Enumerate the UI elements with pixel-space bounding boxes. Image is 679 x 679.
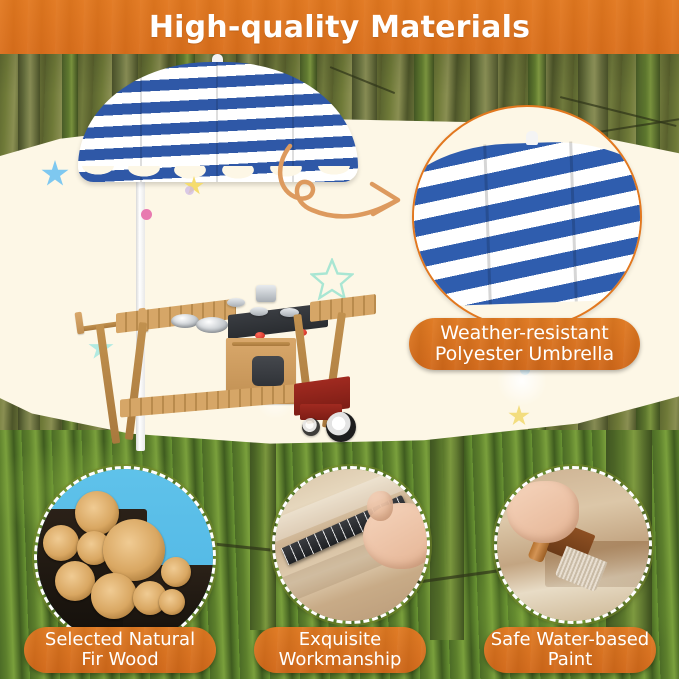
product-feature-image: High-quality Materials (0, 0, 679, 679)
curly-arrow-icon (272, 140, 432, 240)
workmanship-line2: Workmanship (279, 650, 402, 670)
feature-label-workmanship: Exquisite Workmanship (254, 627, 426, 673)
feature-label-paint: Safe Water-based Paint (484, 627, 656, 673)
workmanship-line1: Exquisite (279, 630, 402, 650)
cart-tall-pot (256, 285, 276, 302)
feature-photo-workmanship (272, 466, 430, 624)
pink-dot-icon (141, 209, 152, 220)
fir-wood-line1: Selected Natural (45, 630, 195, 650)
play-kitchen-cart (88, 278, 388, 450)
feature-photo-fir-wood (34, 466, 216, 648)
cart-leg-rear-left (96, 324, 121, 444)
cart-wheel-front (326, 412, 356, 442)
cart-bowl-left (171, 314, 199, 328)
umbrella-fabric-closeup (412, 138, 642, 308)
cart-pot-lid-b (250, 307, 268, 316)
fir-wood-line2: Fir Wood (45, 650, 195, 670)
cart-oven-window (252, 356, 284, 386)
feature-photo-paint (494, 466, 652, 624)
umbrella-detail-photo (412, 105, 642, 329)
paint-line1: Safe Water-based (491, 630, 649, 650)
umbrella-detail-finial (526, 131, 538, 145)
umbrella-callout-label: Weather-resistant Polyester Umbrella (409, 318, 640, 370)
lavender-dot-icon (185, 186, 194, 195)
cart-bowl-right (196, 317, 228, 333)
umbrella-label-line1: Weather-resistant (435, 323, 614, 344)
feature-label-fir-wood: Selected Natural Fir Wood (24, 627, 216, 673)
page-title: High-quality Materials (149, 10, 530, 45)
hand-painting (507, 481, 579, 543)
cart-pot-lid-a (227, 298, 245, 307)
paint-line2: Paint (491, 650, 649, 670)
umbrella-label-line2: Polyester Umbrella (435, 344, 614, 365)
header-banner: High-quality Materials (0, 0, 679, 54)
cart-leg-front-left (125, 322, 147, 440)
cart-wheel-rear (302, 418, 320, 436)
